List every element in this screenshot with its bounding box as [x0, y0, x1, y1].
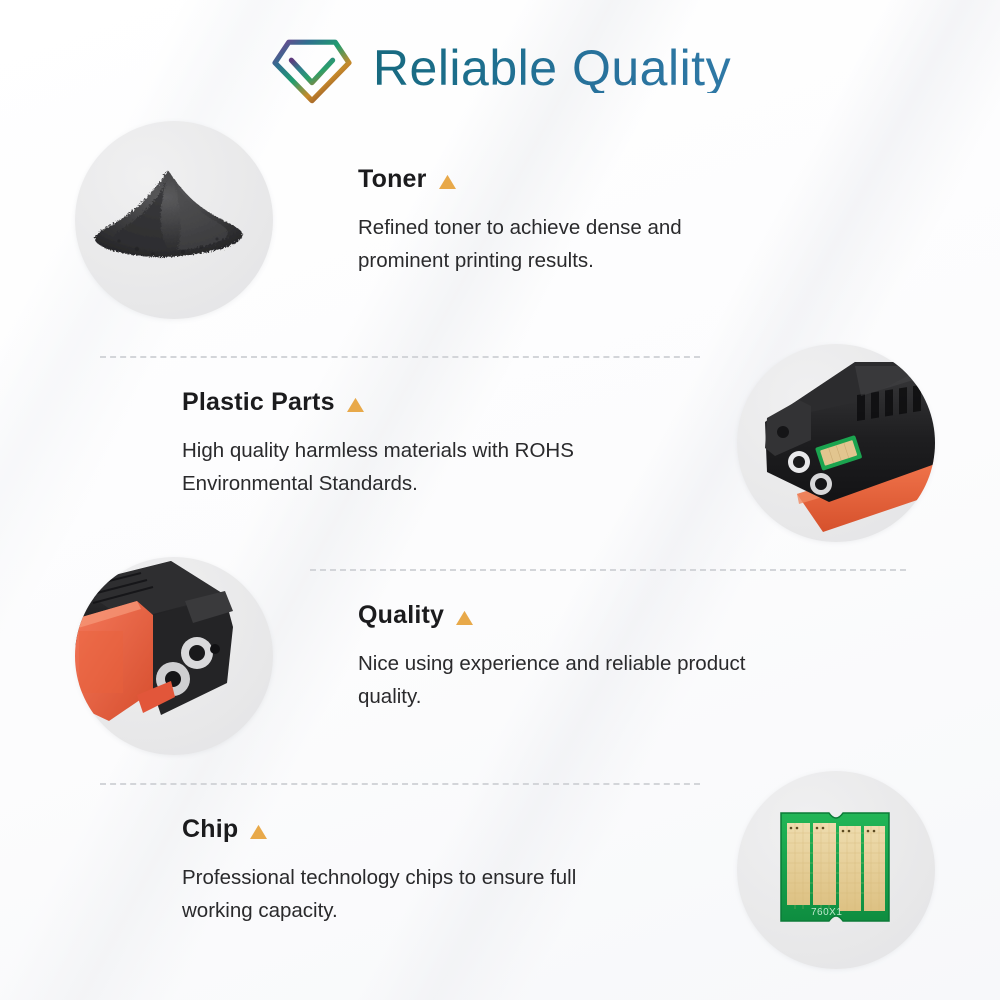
feature-title: Chip: [182, 816, 238, 844]
feature-heading-toner: Toner: [358, 166, 940, 194]
feature-description: Refined toner to achieve dense and promi…: [358, 211, 778, 277]
page-title: Reliable Quality: [373, 43, 731, 93]
feature-title: Plastic Parts: [182, 389, 335, 417]
feature-description: High quality harmless materials with ROH…: [182, 434, 602, 500]
triangle-up-icon: [438, 173, 457, 190]
text-cell-chip: Chip Professional technology chips to en…: [0, 812, 710, 927]
text-cell-quality: Quality Nice using experience and reliab…: [300, 598, 1000, 713]
text-cell-plastic-parts: Plastic Parts High quality harmless mate…: [0, 385, 710, 500]
diamond-check-logo-icon: [269, 25, 355, 111]
media-cell-chip: 760X1: [710, 771, 962, 969]
feature-heading-quality: Quality: [358, 602, 940, 630]
feature-heading-chip: Chip: [182, 816, 676, 844]
triangle-up-icon: [455, 609, 474, 626]
header: Reliable Quality: [0, 18, 1000, 118]
feature-row-plastic-parts: Plastic Parts High quality harmless mate…: [0, 335, 1000, 550]
feature-description: Nice using experience and reliable produ…: [358, 647, 778, 713]
toner-cartridge-angle-photo: [75, 557, 273, 755]
toner-cartridge-chip-photo: [737, 344, 935, 542]
feature-row-quality: Quality Nice using experience and reliab…: [0, 548, 1000, 763]
feature-title: Quality: [358, 602, 444, 630]
green-circuit-chip-photo: 760X1: [737, 771, 935, 969]
circuit-chip-artwork: 760X1: [737, 771, 935, 969]
media-cell-quality: [48, 557, 300, 755]
feature-row-chip: Chip Professional technology chips to en…: [0, 762, 1000, 977]
toner-powder-artwork: [75, 121, 273, 319]
reliable-quality-infographic: Reliable Quality: [0, 0, 1000, 1000]
feature-heading-plastic-parts: Plastic Parts: [182, 389, 676, 417]
feature-row-toner: Toner Refined toner to achieve dense and…: [0, 112, 1000, 327]
cartridge-angle-artwork: [75, 557, 273, 755]
media-cell-toner: [48, 121, 300, 319]
triangle-up-icon: [346, 396, 365, 413]
cartridge-artwork: [737, 344, 935, 542]
text-cell-toner: Toner Refined toner to achieve dense and…: [300, 162, 1000, 277]
feature-description: Professional technology chips to ensure …: [182, 861, 602, 927]
media-cell-plastic-parts: [710, 344, 962, 542]
triangle-up-icon: [249, 823, 268, 840]
toner-powder-photo: [75, 121, 273, 319]
feature-title: Toner: [358, 166, 427, 194]
chip-marking-text: 760X1: [811, 907, 842, 918]
